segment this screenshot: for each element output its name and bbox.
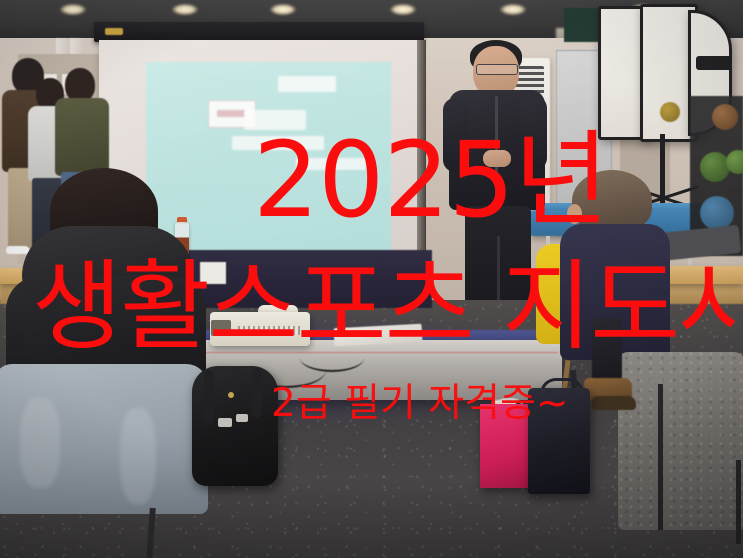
screenshot-root: 2025년 생활스포츠 지도사 2급 필기 자격증~ xyxy=(0,0,743,558)
screen-mount xyxy=(105,28,123,35)
backpack-buckle xyxy=(236,414,248,422)
ceiling-light xyxy=(270,4,296,15)
medicine-ball xyxy=(712,104,738,130)
overlay-text-sub: 2급 필기 자격증~ xyxy=(271,384,569,423)
backpack-strap xyxy=(204,370,214,424)
fabric-fold xyxy=(20,398,60,488)
backpack-strap xyxy=(252,368,262,418)
ceiling-light xyxy=(390,4,416,15)
overlay-text-year: 2025년 xyxy=(253,128,608,232)
coat-texture xyxy=(618,352,743,530)
chair-leg xyxy=(146,508,156,558)
glasses-icon xyxy=(476,64,518,75)
slide-bar xyxy=(278,76,336,92)
boot-sole xyxy=(592,396,636,410)
chair-leg xyxy=(736,460,741,544)
overlay-text-main: 생활스포츠 지도사 xyxy=(32,258,743,356)
medicine-ball xyxy=(660,102,680,122)
ceiling-light xyxy=(172,4,198,15)
projection-screen-frame xyxy=(94,22,424,42)
fabric-fold xyxy=(120,408,156,504)
light-head xyxy=(696,56,732,70)
ceiling-light xyxy=(500,4,526,15)
backpack-buckle xyxy=(218,418,232,427)
ceiling-light xyxy=(60,4,86,15)
slide-label xyxy=(217,110,245,117)
backpack-zipper xyxy=(228,392,234,398)
chair-leg xyxy=(658,384,663,530)
